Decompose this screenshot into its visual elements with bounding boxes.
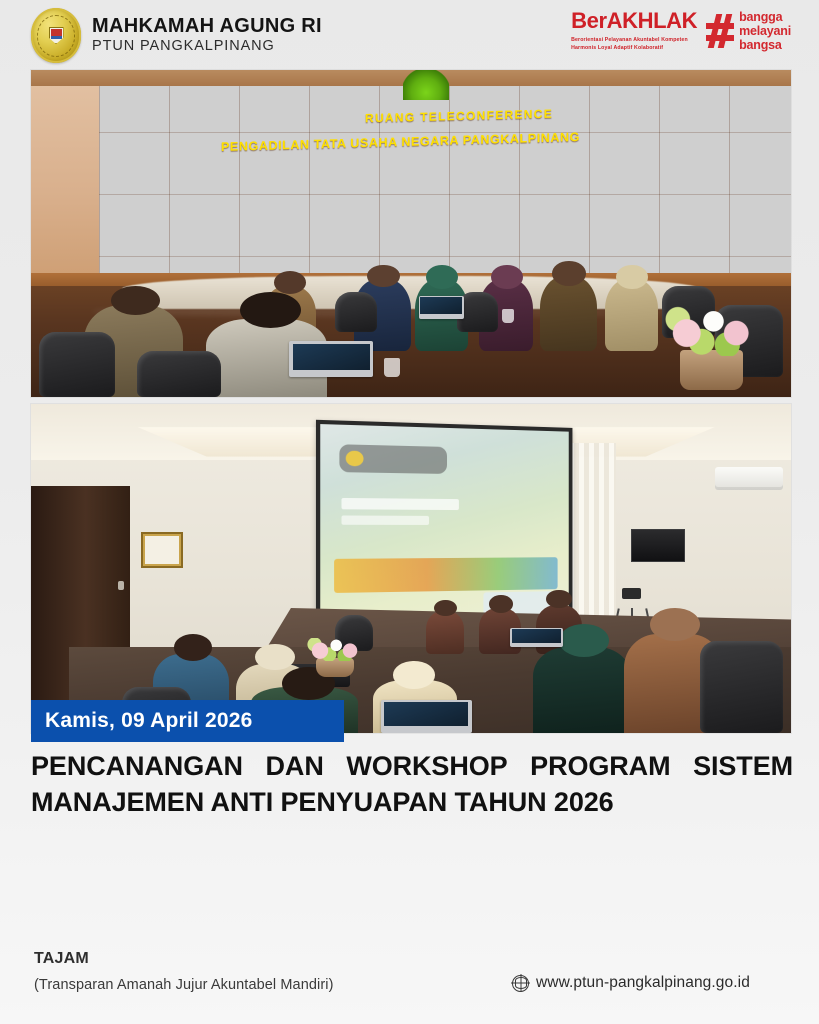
meeting-room-projector-photo [31,404,791,733]
date-banner: Kamis, 09 April 2026 [31,700,344,742]
title-word: DAN [266,749,324,785]
attendee [540,276,597,351]
attendee-head [274,271,306,294]
attendee-head [393,661,436,689]
attendee-head [240,292,301,328]
attendee-head [426,265,458,290]
title-line-1: PENCANANGAN DAN WORKSHOP PROGRAM SISTEM [31,749,793,785]
organization-brand: MAHKAMAH AGUNG RI PTUN PANGKALPINANG [31,8,322,63]
drinking-glass [384,358,399,378]
title-word: SISTEM [693,749,793,785]
attendee-head [489,595,513,613]
wall-monitor [631,529,684,562]
teleconference-room-photo: RUANG TELECONFERENCE PENGADILAN TATA USA… [31,70,791,397]
drinking-glass [502,309,514,324]
attendee-head [111,286,160,315]
flower-bouquet [662,305,761,356]
title-word: WORKSHOP [346,749,507,785]
laptop [510,628,563,648]
flower-bouquet [305,638,366,662]
berakhlak-tagline-line1: Berorientasi Pelayanan Akuntabel Kompete… [571,36,697,44]
attendee-head [255,644,295,670]
laptop [419,296,465,319]
title-word: PENCANANGAN [31,749,243,785]
brand-text-block: MAHKAMAH AGUNG RI PTUN PANGKALPINANG [92,16,322,56]
seal-shield-icon [49,27,64,44]
organization-subtitle: PTUN PANGKALPINANG [92,38,322,55]
bangga-slogan-lines: bangga melayani bangsa [739,10,791,52]
attendee [426,611,464,654]
page-footer: TAJAM (Transparan Amanah Jujur Akuntabel… [0,928,819,1024]
attendee-head [552,261,585,286]
hashtag-icon [706,14,734,48]
attendee-head [174,634,212,660]
slogan-line-3: bangsa [739,38,791,52]
office-chair [137,351,221,397]
laptop [289,341,373,377]
attendee-head [616,265,648,290]
berakhlak-tagline: Berorientasi Pelayanan Akuntabel Kompete… [571,36,697,52]
green-emblem-icon [403,70,449,100]
organization-title: MAHKAMAH AGUNG RI [92,16,322,37]
page-header: MAHKAMAH AGUNG RI PTUN PANGKALPINANG Ber… [0,0,819,68]
title-word: PROGRAM [530,749,670,785]
slide-color-band [333,557,557,593]
attendee-head [559,624,608,657]
attendee-head [367,265,400,288]
slide-logo-badge [339,444,447,474]
flower-arrangement [662,305,761,390]
bangga-melayani-bangsa-logo: bangga melayani bangsa [706,9,791,52]
title-line-2: MANAJEMEN ANTI PENYUAPAN TAHUN 2026 [31,785,793,821]
attendee-hijab-foreground [533,647,632,733]
attendee-head [650,608,699,641]
tajam-label: TAJAM [34,950,89,968]
office-chair [39,332,115,397]
attendee-head [491,265,523,290]
website-link[interactable]: www.ptun-pangkalpinang.go.id [512,974,750,992]
event-date: Kamis, 09 April 2026 [45,709,253,733]
office-chair [335,292,377,331]
berakhlak-tagline-line2: Harmonis Loyal Adaptif Kolaboratif [571,44,697,52]
wall-picture-frame [141,532,183,568]
poster-page: MAHKAMAH AGUNG RI PTUN PANGKALPINANG Ber… [0,0,819,1024]
flower-arrangement [305,638,366,677]
website-url: www.ptun-pangkalpinang.go.id [536,974,750,992]
berakhlak-wordmark: BerAKHLAK [571,10,697,32]
slogan-line-2: melayani [739,24,791,38]
mahkamah-agung-seal-icon [31,8,81,63]
office-chair [700,641,784,733]
slide-title-bar [341,498,459,510]
globe-icon [512,975,529,992]
slide-subtitle-bar [341,515,429,525]
attendee-hijab [605,279,658,351]
tajam-expansion: (Transparan Amanah Jujur Akuntabel Mandi… [34,977,334,993]
wall-tile-grid [99,70,791,273]
berakhlak-logo: BerAKHLAK Berorientasi Pelayanan Akuntab… [571,9,791,52]
laptop [381,700,472,733]
wood-panel-left [31,70,99,273]
page-title: PENCANANGAN DAN WORKSHOP PROGRAM SISTEM … [31,749,793,821]
slogan-line-1: bangga [739,10,791,24]
attendee-head [434,600,457,616]
air-conditioner [715,467,783,490]
berakhlak-wordmark-block: BerAKHLAK Berorientasi Pelayanan Akuntab… [571,9,697,52]
